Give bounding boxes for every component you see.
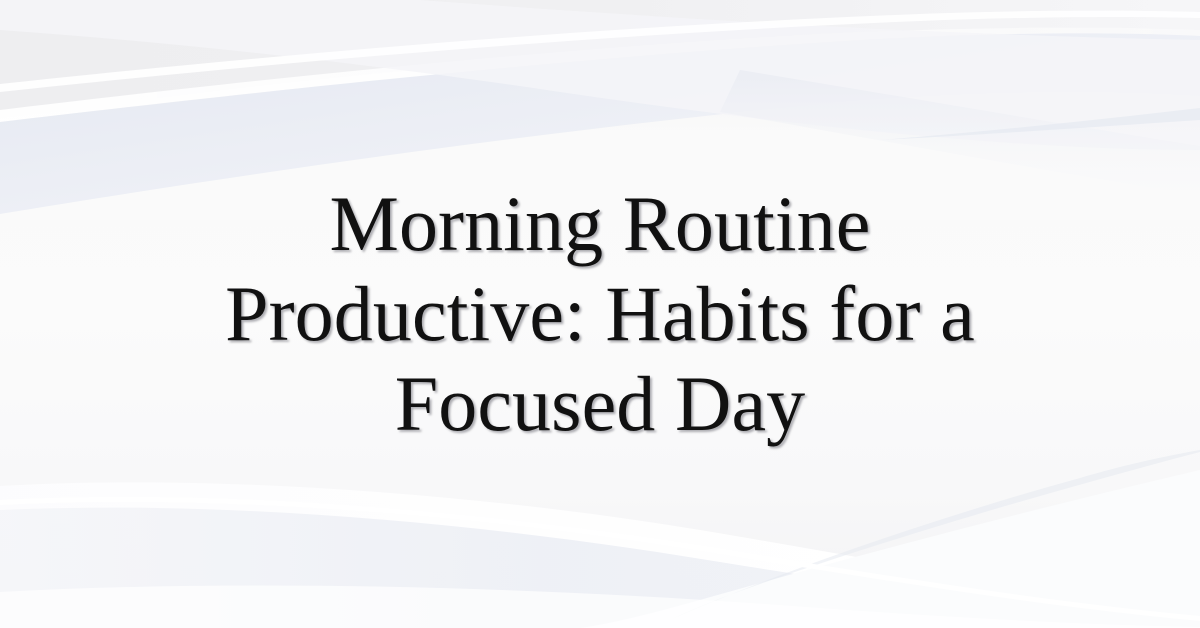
social-share-card: Morning Routine Productive: Habits for a… <box>0 0 1200 628</box>
headline-container: Morning Routine Productive: Habits for a… <box>0 0 1200 628</box>
page-title: Morning Routine Productive: Habits for a… <box>90 179 1110 449</box>
